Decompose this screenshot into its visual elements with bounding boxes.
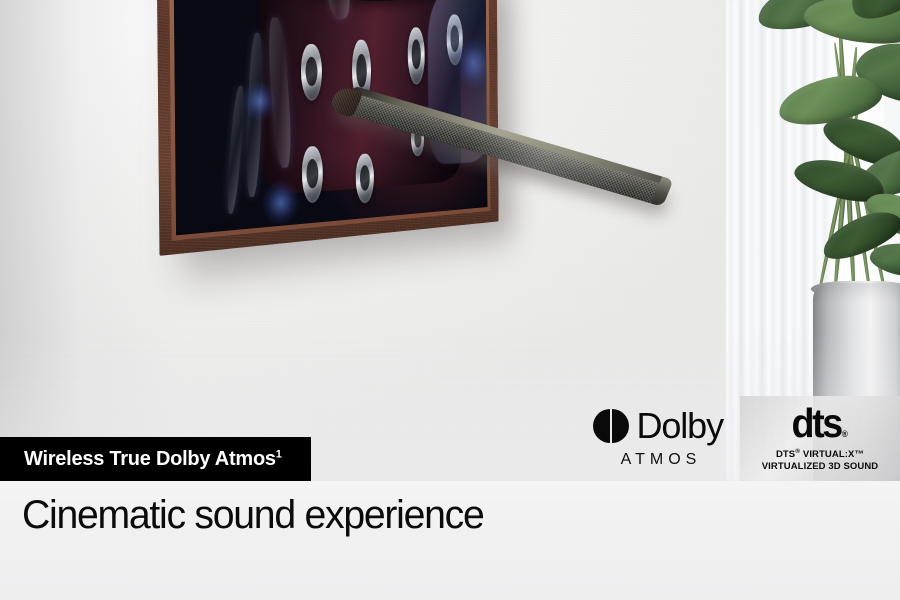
feature-badge-text: Wireless True Dolby Atmos	[24, 448, 276, 470]
dts-subtitle-line2: VIRTUALIZED 3D SOUND	[762, 461, 879, 472]
dolby-atmos-subtitle: ATMOS	[615, 451, 702, 469]
dolby-double-d-icon	[593, 409, 630, 443]
page-title: Cinematic sound experience	[22, 493, 484, 538]
dts-subtitle-prefix: DTS	[776, 449, 795, 460]
dolby-d-right-icon	[612, 409, 629, 443]
feature-badge-label: Wireless True Dolby Atmos1	[0, 448, 282, 471]
dolby-wordmark-row: Dolby	[593, 408, 723, 444]
dts-registered-icon: ®	[842, 430, 848, 438]
dolby-wordmark: Dolby	[636, 408, 723, 444]
dolby-d-left-icon	[593, 409, 610, 443]
dolby-atmos-logo: Dolby ATMOS	[566, 408, 744, 469]
dts-subtitle-line1: DTS® VIRTUAL:X™	[776, 448, 864, 460]
dts-wordmark-row: dts ®	[792, 405, 848, 443]
dts-subtitle-suffix: VIRTUAL:X™	[800, 449, 864, 460]
promo-banner: Dolby ATMOS dts ® DTS® VIRTUAL:X™ VIRTUA…	[0, 0, 900, 600]
certification-logos: Dolby ATMOS dts ® DTS® VIRTUAL:X™ VIRTUA…	[566, 396, 900, 481]
hero-photo: Dolby ATMOS dts ® DTS® VIRTUAL:X™ VIRTUA…	[0, 0, 900, 481]
dts-wordmark: dts	[792, 405, 841, 443]
feature-badge: Wireless True Dolby Atmos1	[0, 437, 311, 481]
feature-badge-footnote-marker: 1	[276, 448, 282, 460]
dts-logo-panel: dts ® DTS® VIRTUAL:X™ VIRTUALIZED 3D SOU…	[740, 396, 900, 481]
